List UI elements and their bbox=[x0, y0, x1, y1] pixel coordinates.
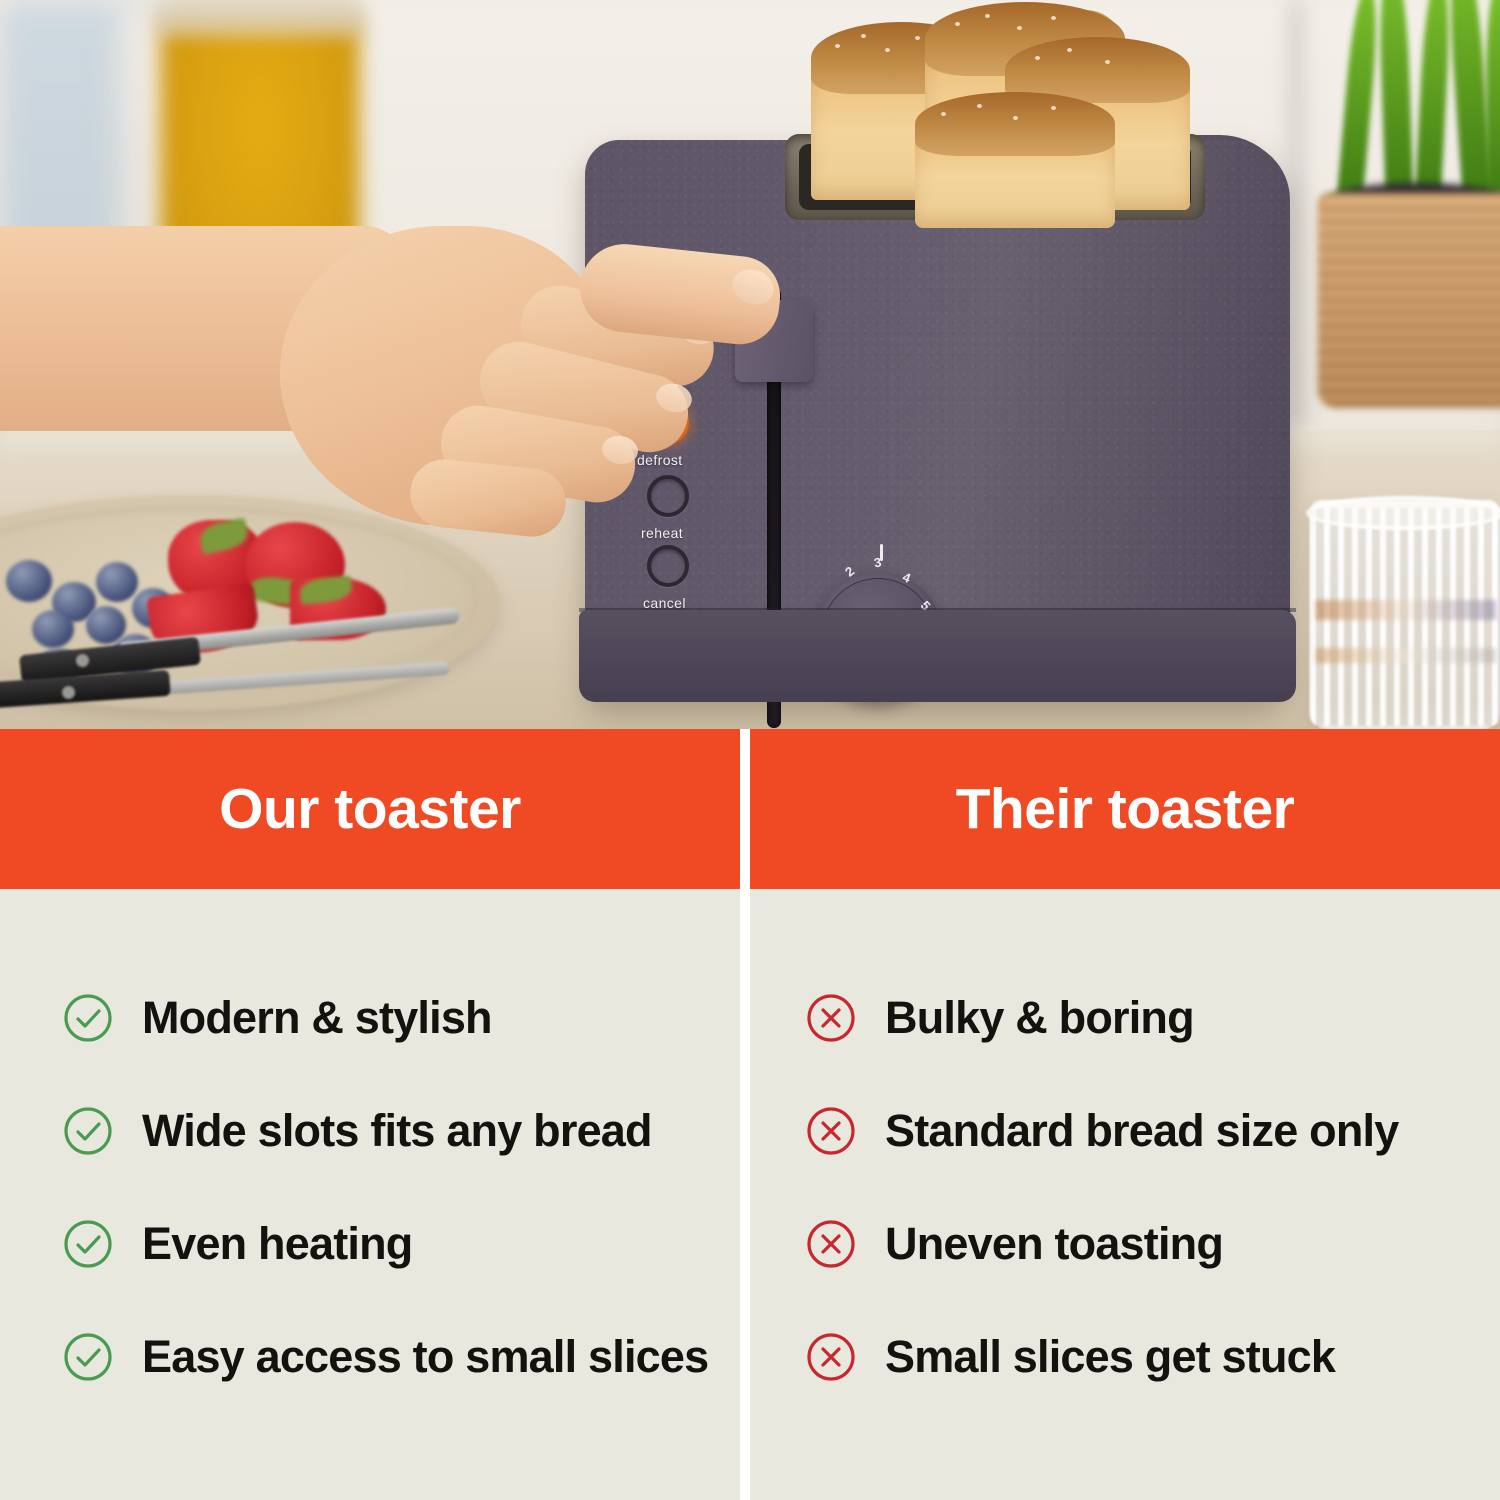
list-item-label: Modern & stylish bbox=[142, 995, 492, 1040]
knife-rivet bbox=[76, 654, 89, 667]
check-circle-icon bbox=[62, 1331, 114, 1383]
fluted-glass-refraction-band bbox=[1316, 648, 1496, 663]
list-item-label: Easy access to small slices bbox=[142, 1334, 708, 1379]
blueberry bbox=[6, 560, 52, 602]
toast-seed bbox=[1013, 116, 1018, 120]
hand-pressing-lever bbox=[0, 130, 770, 550]
toast-seed bbox=[941, 112, 946, 116]
header-theirs-title: Their toaster bbox=[956, 776, 1295, 842]
blueberry bbox=[96, 562, 138, 602]
check-circle-icon bbox=[62, 992, 114, 1044]
blueberry bbox=[32, 610, 74, 648]
list-item-label: Even heating bbox=[142, 1221, 412, 1266]
toast-seed bbox=[861, 34, 866, 38]
comparison-infographic: defrost reheat cancel bella 2 3 4 5 bbox=[0, 0, 1500, 1500]
list-item-label: Standard bread size only bbox=[885, 1108, 1398, 1153]
list-theirs: Bulky & boring Standard bread size only … bbox=[750, 889, 1500, 1500]
column-headers: Our toaster Their toaster bbox=[0, 729, 1500, 889]
list-item-label: Bulky & boring bbox=[885, 995, 1194, 1040]
toast-seed bbox=[1051, 106, 1056, 110]
header-ours: Our toaster bbox=[0, 729, 740, 889]
toast-seed bbox=[1051, 16, 1056, 20]
product-lifestyle-photo: defrost reheat cancel bella 2 3 4 5 bbox=[0, 0, 1500, 729]
toast-seed bbox=[915, 36, 920, 40]
x-circle-icon bbox=[805, 992, 857, 1044]
list-item-label: Small slices get stuck bbox=[885, 1334, 1335, 1379]
list-item: Modern & stylish bbox=[0, 961, 740, 1074]
list-item: Uneven toasting bbox=[750, 1187, 1500, 1300]
check-circle-icon bbox=[62, 1218, 114, 1270]
pasta-jar-lid bbox=[152, 0, 364, 36]
list-item: Bulky & boring bbox=[750, 961, 1500, 1074]
toaster-base bbox=[579, 610, 1296, 702]
toast-seed bbox=[955, 22, 960, 26]
column-divider bbox=[740, 729, 750, 1500]
fluted-glass-rim bbox=[1306, 496, 1500, 530]
toast-seed bbox=[835, 44, 840, 48]
toast-seed bbox=[1035, 56, 1040, 60]
plant-pot-ribs bbox=[1318, 200, 1500, 405]
toast-crust bbox=[915, 92, 1115, 156]
list-item: Wide slots fits any bread bbox=[0, 1074, 740, 1187]
knife-rivet bbox=[62, 686, 75, 699]
list-item: Standard bread size only bbox=[750, 1074, 1500, 1187]
check-circle-icon bbox=[62, 1105, 114, 1157]
toast-seed bbox=[1105, 60, 1110, 64]
toast-seed bbox=[1017, 26, 1022, 30]
plant-stem bbox=[1486, 0, 1500, 218]
header-theirs: Their toaster bbox=[750, 729, 1500, 889]
x-circle-icon bbox=[805, 1105, 857, 1157]
x-circle-icon bbox=[805, 1331, 857, 1383]
list-item-label: Uneven toasting bbox=[885, 1221, 1223, 1266]
toast-seed bbox=[885, 48, 890, 52]
list-item: Even heating bbox=[0, 1187, 740, 1300]
x-circle-icon bbox=[805, 1218, 857, 1270]
list-ours: Modern & stylish Wide slots fits any bre… bbox=[0, 889, 740, 1500]
list-item-label: Wide slots fits any bread bbox=[142, 1108, 652, 1153]
list-item: Small slices get stuck bbox=[750, 1300, 1500, 1413]
toast-seed bbox=[1067, 48, 1072, 52]
toast-seed bbox=[977, 104, 982, 108]
cancel-button[interactable] bbox=[647, 545, 689, 587]
comparison-lists: Modern & stylish Wide slots fits any bre… bbox=[0, 889, 1500, 1500]
fluted-glass-refraction-band bbox=[1316, 600, 1496, 620]
toast-seed bbox=[985, 14, 990, 18]
header-ours-title: Our toaster bbox=[219, 776, 521, 842]
list-item: Easy access to small slices bbox=[0, 1300, 740, 1413]
